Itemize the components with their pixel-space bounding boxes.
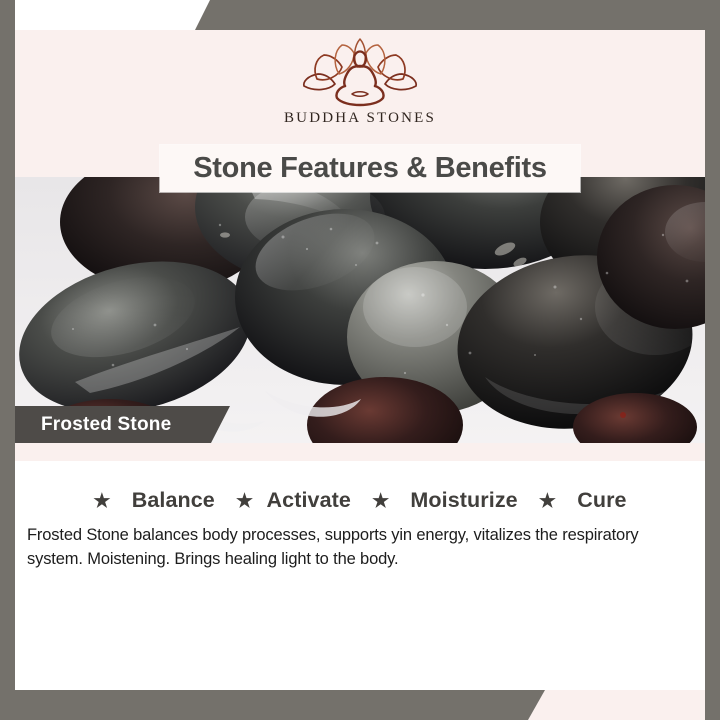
star-icon: ★ xyxy=(539,491,556,512)
content-body: ★ Balance ★ Activate ★ Moisturize ★ Cure… xyxy=(15,461,705,690)
photo-label-text: Frosted Stone xyxy=(15,414,171,436)
pink-divider-strip xyxy=(15,443,705,461)
brand-name: BUDDHA STONES xyxy=(284,110,436,127)
star-icon: ★ xyxy=(236,491,253,512)
frame-top-accent xyxy=(0,0,720,30)
benefit-item-balance: Balance xyxy=(132,488,215,512)
benefit-item-moisturize: Moisturize xyxy=(410,488,517,512)
description-text: Frosted Stone balances body processes, s… xyxy=(27,523,693,572)
frame-right-accent xyxy=(705,0,720,720)
benefit-item-cure: Cure xyxy=(577,488,626,512)
card-inner: BUDDHA STONES Stone Features & Benefits xyxy=(15,30,705,690)
title-banner: Stone Features & Benefits xyxy=(160,145,580,192)
benefit-item-activate: Activate xyxy=(267,488,351,512)
page-title: Stone Features & Benefits xyxy=(193,152,546,185)
star-icon: ★ xyxy=(372,491,389,512)
frame-left-accent xyxy=(0,0,15,720)
star-icon: ★ xyxy=(93,491,110,512)
lotus-meditation-figure-icon xyxy=(301,36,419,108)
brand-logo: BUDDHA STONES xyxy=(15,36,705,127)
benefits-list: ★ Balance ★ Activate ★ Moisturize ★ Cure xyxy=(15,461,705,513)
stone-photo: Frosted Stone xyxy=(15,177,705,443)
stone-photo-artwork xyxy=(15,177,705,443)
photo-label-band: Frosted Stone xyxy=(15,406,230,443)
infographic-card: BUDDHA STONES Stone Features & Benefits xyxy=(0,0,720,720)
